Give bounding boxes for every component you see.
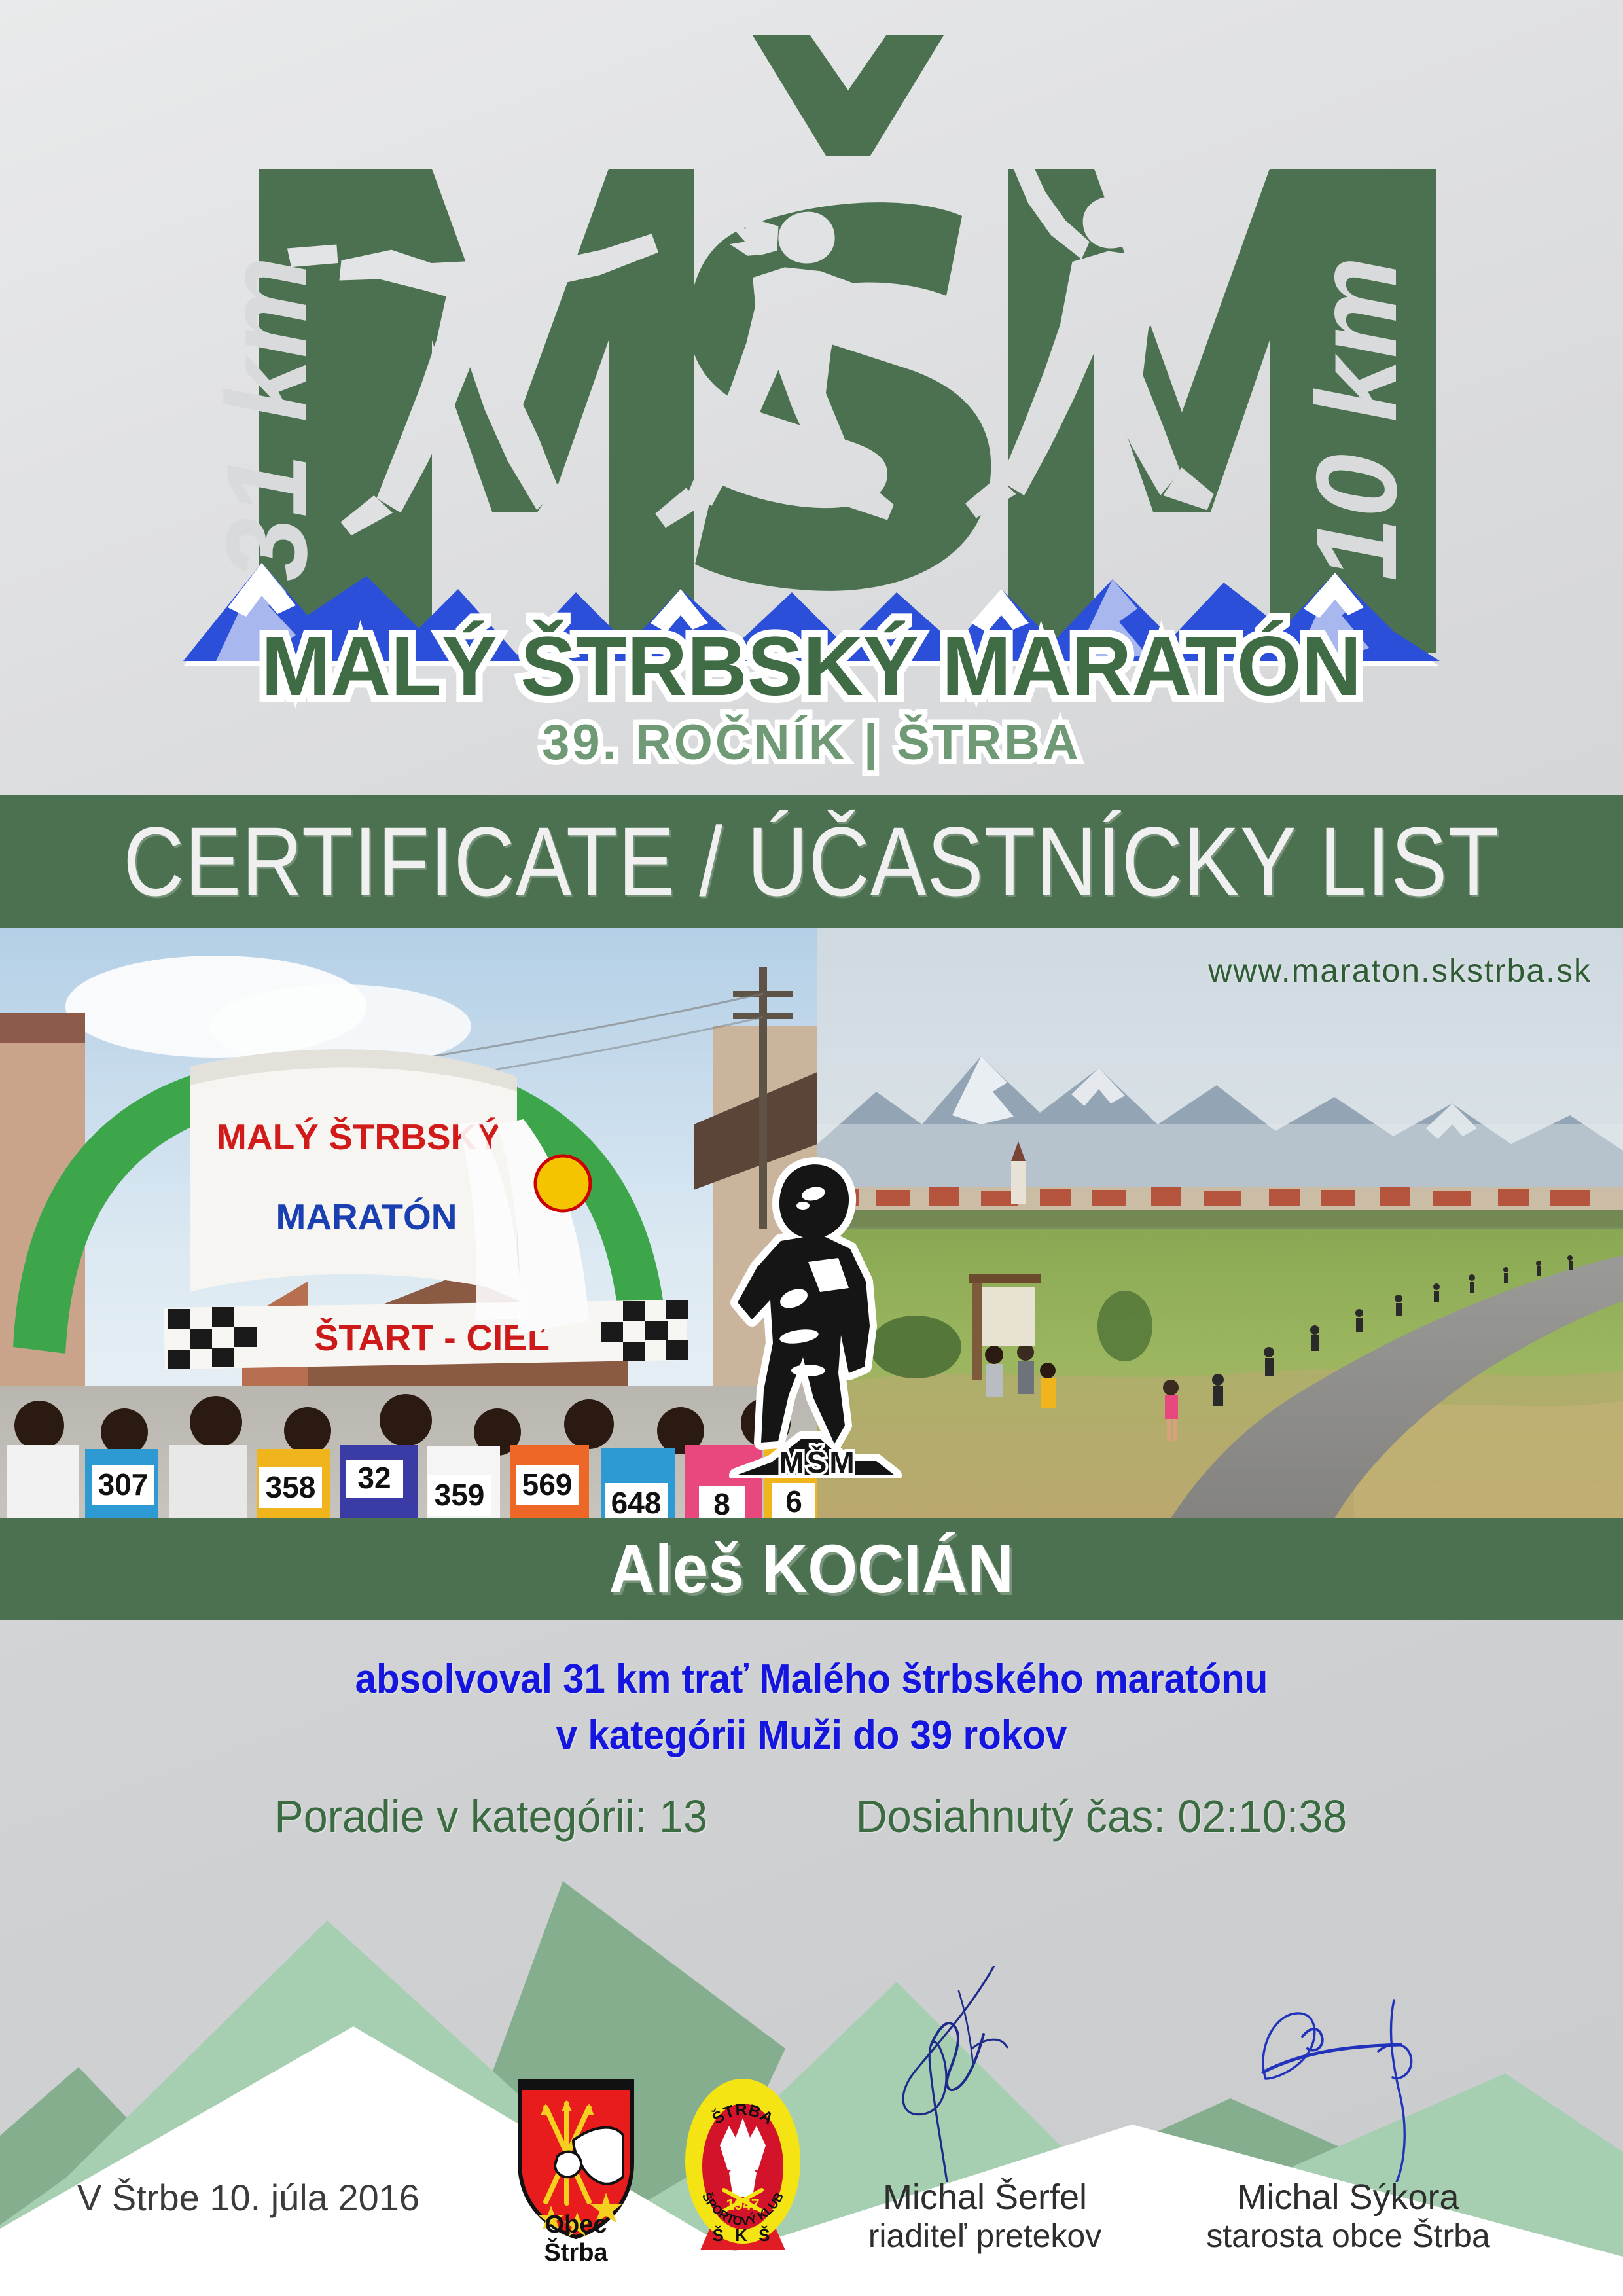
svg-text:10 km: 10 km — [1293, 257, 1421, 581]
start-line-runners-photo: MALÝ ŠTRBSKÝ MARATÓN ŠTART - CIEĽ — [0, 928, 817, 1518]
arch-text-line2: MARATÓN — [276, 1196, 457, 1237]
logo-letters — [259, 35, 1436, 653]
website-url[interactable]: www.maraton.skstrba.sk — [1208, 952, 1592, 990]
achievement-line-2: v kategórii Muži do 39 rokov — [48, 1708, 1574, 1764]
certificate-footer: V Štrbe 10. júla 2016 — [0, 2021, 1623, 2296]
start-banner-text: ŠTART - CIEĽ — [314, 1317, 550, 1358]
logo-subtitle: 39. ROČNÍK | ŠTRBA — [542, 715, 1081, 771]
achievement-line-1: absolvoval 31 km trať Malého štrbského m… — [48, 1651, 1574, 1708]
svg-text:31 km: 31 km — [204, 257, 331, 581]
signature-name: Michal Sýkora — [1191, 2178, 1505, 2217]
logo-title: MALÝ ŠTRBSKÝ MARATÓN — [261, 620, 1361, 713]
msm-runner-emblem: MŠM — [710, 1151, 926, 1478]
certificate-banner: CERTIFICATE / ÚČASTNÍCKY LIST — [0, 795, 1623, 928]
signature-role: starosta obce Štrba — [1191, 2217, 1505, 2255]
bib-number: 648 — [611, 1486, 662, 1518]
event-logo-block: 31 km 10 km MALÝ ŠTRBSKÝ MARATÓN — [0, 0, 1623, 789]
obec-logo-label: Obec Štrba — [510, 2211, 641, 2267]
bib-number: 8 — [713, 1487, 730, 1518]
logo-left-distance: 31 km — [204, 257, 331, 581]
participant-name: Aleš KOCIÁN — [609, 1530, 1014, 1609]
bib-number: 358 — [266, 1470, 316, 1504]
bib-number: 359 — [435, 1478, 485, 1512]
signature-role: riaditeľ pretekov — [838, 2217, 1132, 2255]
certificate-banner-title: CERTIFICATE / ÚČASTNÍCKY LIST — [123, 805, 1500, 918]
msm-emblem-label: MŠM — [779, 1445, 857, 1478]
signature-block-director: Michal Šerfel riaditeľ pretekov — [838, 2178, 1132, 2255]
obec-strba-logo: Obec Štrba — [510, 2077, 641, 2267]
issue-date: V Štrbe 10. júla 2016 — [77, 2176, 419, 2219]
finish-time: Dosiahnutý čas: 02:10:38 — [856, 1790, 1347, 1842]
signature-block-mayor: Michal Sýkora starosta obce Štrba — [1191, 2178, 1505, 2255]
logo-letter-m-left — [342, 169, 694, 653]
sks-bottom-text: Š K Š — [713, 2225, 774, 2245]
logo-right-distance: 10 km — [1293, 257, 1421, 581]
bib-number: 6 — [785, 1484, 802, 1518]
bib-number: 569 — [522, 1467, 573, 1501]
stats-row: Poradie v kategórii: 13 Dosiahnutý čas: … — [0, 1790, 1623, 1842]
bib-number: 32 — [357, 1461, 391, 1495]
category-rank: Poradie v kategórii: 13 — [274, 1790, 707, 1842]
sks-year: 1947 — [726, 2196, 759, 2213]
arch-text-line1: MALÝ ŠTRBSKÝ — [217, 1117, 501, 1157]
certificate-page: 31 km 10 km MALÝ ŠTRBSKÝ MARATÓN — [0, 0, 1623, 2296]
bib-number: 307 — [98, 1467, 149, 1501]
sks-strba-logo: ŠTRBA ŠPORTOVÝ KLUB 1947 Š K Š — [681, 2075, 805, 2265]
logo-svg: 31 km 10 km MALÝ ŠTRBSKÝ MARATÓN — [0, 0, 1623, 789]
logo-caron — [753, 35, 944, 156]
participant-name-banner: Aleš KOCIÁN — [0, 1518, 1623, 1620]
signature-name: Michal Šerfel — [838, 2178, 1132, 2217]
photo-strip: MALÝ ŠTRBSKÝ MARATÓN ŠTART - CIEĽ — [0, 928, 1623, 1518]
mountain-road-runners-photo: www.maraton.skstrba.sk — [817, 928, 1623, 1518]
